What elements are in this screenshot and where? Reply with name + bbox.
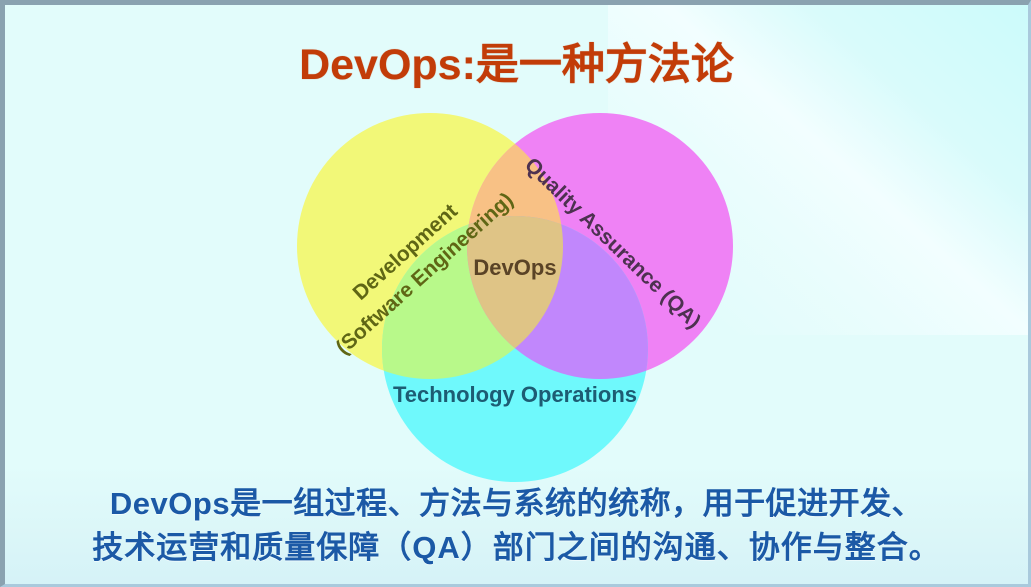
caption-line-2: 技术运营和质量保障（QA）部门之间的沟通、协作与整合。 <box>5 526 1028 570</box>
caption-line-1: DevOps是一组过程、方法与系统的统称，用于促进开发、 <box>5 482 1028 526</box>
presentation-slide: DevOps:是一种方法论 <box>0 0 1031 587</box>
venn-label-devops-center: DevOps <box>473 255 556 280</box>
venn-diagram: Development (Software Engineering) Quali… <box>265 91 765 491</box>
venn-label-technology-operations: Technology Operations <box>393 382 637 407</box>
slide-title: DevOps:是一种方法论 <box>5 30 1028 92</box>
slide-caption: DevOps是一组过程、方法与系统的统称，用于促进开发、 技术运营和质量保障（Q… <box>5 482 1028 570</box>
